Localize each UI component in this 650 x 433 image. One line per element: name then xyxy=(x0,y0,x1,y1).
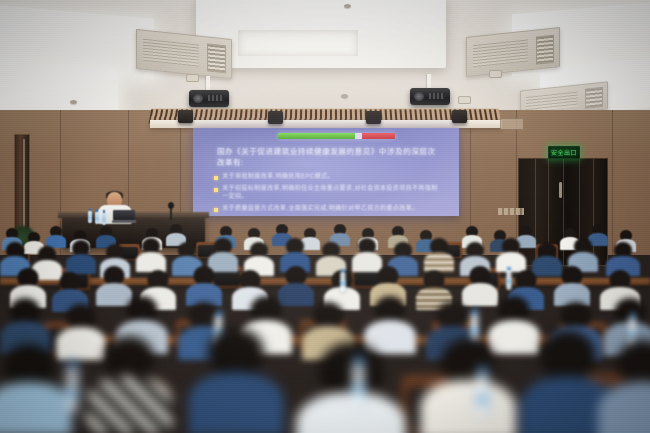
slide-bullet-item: 关于审批制度改革,明确民用EPC模式。 xyxy=(214,173,443,182)
bullet-marker-icon xyxy=(214,188,218,192)
wall-vent-plate xyxy=(498,208,524,215)
ceiling-speaker-icon xyxy=(186,74,199,82)
microphone xyxy=(170,206,172,220)
ceiling-sensor-icon xyxy=(70,100,77,104)
audience xyxy=(0,224,650,433)
ceiling-speaker-icon xyxy=(458,96,471,104)
wall-speaker xyxy=(452,110,467,123)
slide-banner xyxy=(278,133,395,139)
wall-speaker xyxy=(178,110,193,123)
side-door-left[interactable] xyxy=(14,134,30,234)
ceiling-speaker-icon xyxy=(489,70,502,78)
wall-vent-plate xyxy=(500,118,524,130)
conference-hall-photo: 安全出口 国办《关于促进建筑业持续健康发展的意见》中涉及的深层次改革有: 关于审… xyxy=(0,0,650,433)
presenter-laptop xyxy=(112,210,136,223)
slide-bullet-item: 关于招投标制度改革,明确担任业主体重点要求,对社会资本投资项目不再强制一定招。 xyxy=(214,185,443,202)
ceiling-projector xyxy=(410,88,450,105)
ceiling-sensor-icon xyxy=(344,4,351,8)
ceiling-coffer-inner xyxy=(238,30,358,56)
bullet-marker-icon xyxy=(214,176,218,180)
exit-sign: 安全出口 xyxy=(548,146,580,159)
table-bottle xyxy=(88,211,92,223)
wall-speaker xyxy=(366,111,381,124)
slide-bullet-item: 关于质量监管方式改革,全面落实完成,明确针对甲乙双方的重点改革。 xyxy=(214,205,443,214)
ceiling-projector xyxy=(189,90,229,107)
wall-speaker xyxy=(268,111,283,124)
table-bottle xyxy=(95,212,99,224)
screen-soffit xyxy=(150,120,502,128)
projection-screen: 国办《关于促进建筑业持续健康发展的意见》中涉及的深层次改革有: 关于审批制度改革… xyxy=(193,128,459,216)
bullet-marker-icon xyxy=(214,208,218,212)
slide-bullet-list: 关于审批制度改革,明确民用EPC模式。 关于招投标制度改革,明确担任业主体重点要… xyxy=(214,173,443,216)
ceiling-sensor-icon xyxy=(341,94,348,98)
slide-title: 国办《关于促进建筑业持续健康发展的意见》中涉及的深层次改革有: xyxy=(217,146,440,168)
exit-sign-label: 安全出口 xyxy=(551,148,577,157)
